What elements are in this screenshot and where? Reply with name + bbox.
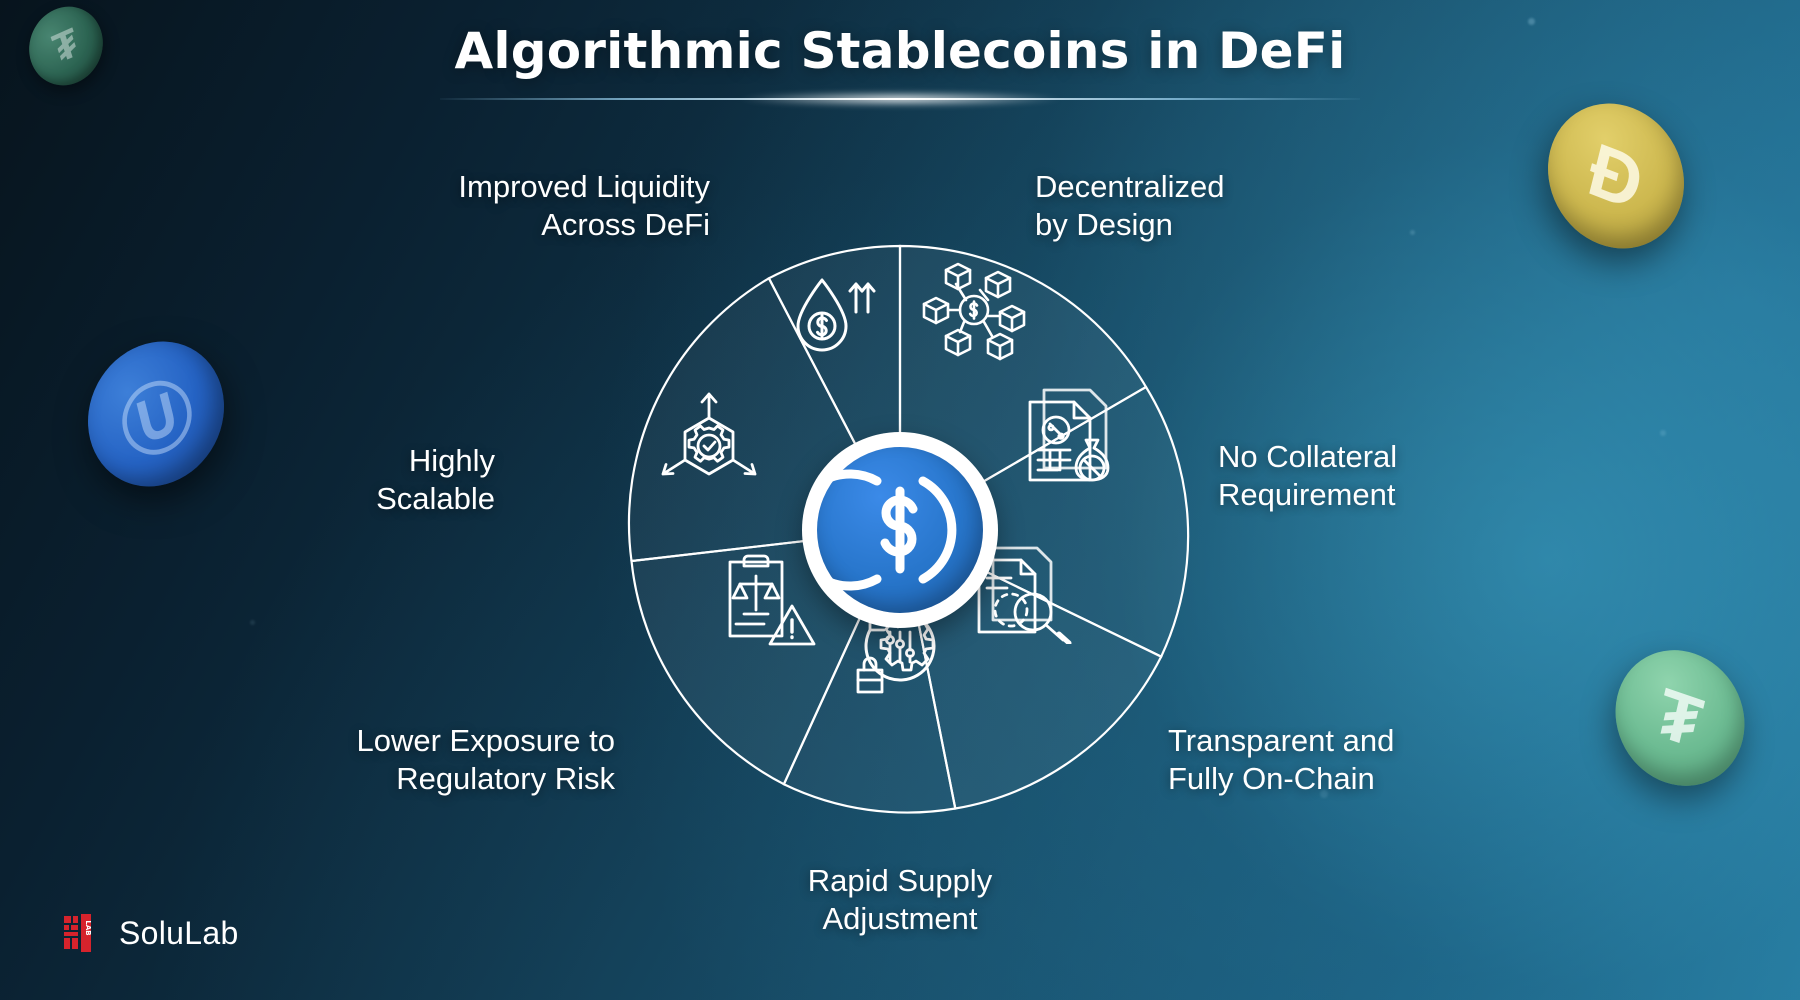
icon-lower-regulatory xyxy=(718,548,818,652)
svg-text:LAB: LAB xyxy=(84,920,92,935)
solulab-logo-mark-icon: LAB xyxy=(64,912,106,954)
label-lower-regulatory: Lower Exposure to Regulatory Risk xyxy=(357,722,615,798)
solulab-logo-text: SoluLab xyxy=(119,915,239,952)
icon-improved-liquidity xyxy=(782,266,878,362)
usdc-symbol-icon: Ⓤ xyxy=(108,349,203,480)
label-rapid-supply: Rapid Supply Adjustment xyxy=(0,862,1800,938)
label-improved-liquidity: Improved Liquidity Across DeFi xyxy=(458,168,710,244)
icon-decentralized xyxy=(916,260,1028,364)
icon-highly-scalable xyxy=(657,388,767,492)
usdc-coin-face xyxy=(817,447,983,613)
page-title: Algorithmic Stablecoins in DeFi xyxy=(0,22,1800,80)
tether-coin-decoration: ₮ xyxy=(1602,632,1757,804)
dai-symbol-icon: Đ xyxy=(1581,125,1652,227)
solulab-logo: LAB SoluLab xyxy=(64,912,239,954)
title-block: Algorithmic Stablecoins in DeFi xyxy=(0,22,1800,100)
hub-usdc-coin xyxy=(802,432,998,628)
title-divider xyxy=(440,98,1360,100)
label-transparent-onchain: Transparent and Fully On-Chain xyxy=(1168,722,1394,798)
background-speck xyxy=(250,620,255,625)
icon-no-collateral xyxy=(1016,382,1120,486)
radial-wheel xyxy=(592,222,1208,838)
label-no-collateral: No Collateral Requirement xyxy=(1218,438,1397,514)
label-highly-scalable: Highly Scalable xyxy=(376,442,495,518)
tether-symbol-icon: ₮ xyxy=(1651,672,1710,764)
usdc-coin-decoration: Ⓤ xyxy=(73,321,239,507)
dai-coin-decoration: Đ xyxy=(1533,83,1699,269)
label-decentralized: Decentralized by Design xyxy=(1035,168,1225,244)
background-speck xyxy=(1660,430,1666,436)
infographic-canvas: ₮ Ⓤ Đ ₮ Algorithmic Stablecoins in DeFi xyxy=(0,0,1800,1000)
background-speck xyxy=(1410,230,1415,235)
